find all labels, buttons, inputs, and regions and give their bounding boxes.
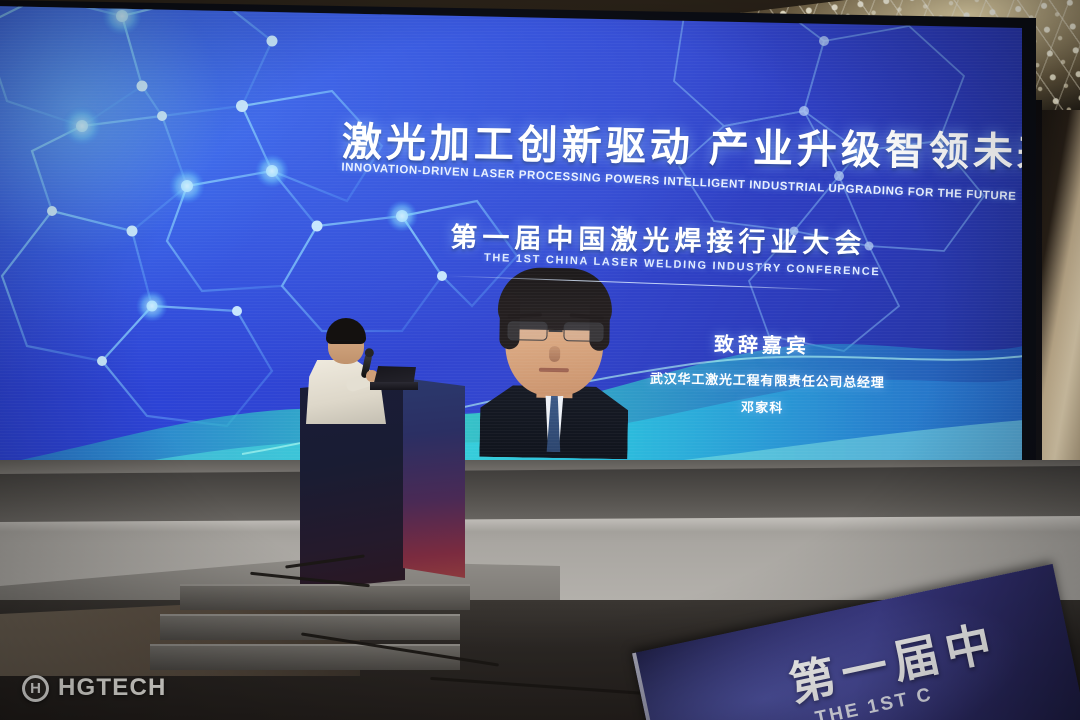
- hgtech-brand-text: HGTECH: [58, 674, 167, 702]
- laptop-base: [370, 382, 418, 390]
- hgtech-logo-icon: H: [22, 675, 49, 702]
- led-screen: 激光加工创新驱动 产业升级智领未来 INNOVATION-DRIVEN LASE…: [0, 6, 1024, 500]
- step-1: [180, 584, 470, 610]
- hgtech-watermark: H HGTECH: [22, 674, 167, 702]
- step-3: [150, 644, 460, 670]
- podium-side-panel: [403, 372, 465, 578]
- hgtech-mark-letter: H: [30, 681, 41, 696]
- laptop: [370, 366, 418, 392]
- conference-stage-photo: 激光加工创新驱动 产业升级智领未来 INNOVATION-DRIVEN LASE…: [0, 0, 1080, 720]
- led-wall-frame: 激光加工创新驱动 产业升级智领未来 INNOVATION-DRIVEN LASE…: [0, 0, 1044, 512]
- presenter-glasses: [329, 340, 363, 348]
- stage-riser: [0, 466, 1080, 524]
- led-scanline-overlay: [0, 6, 1024, 500]
